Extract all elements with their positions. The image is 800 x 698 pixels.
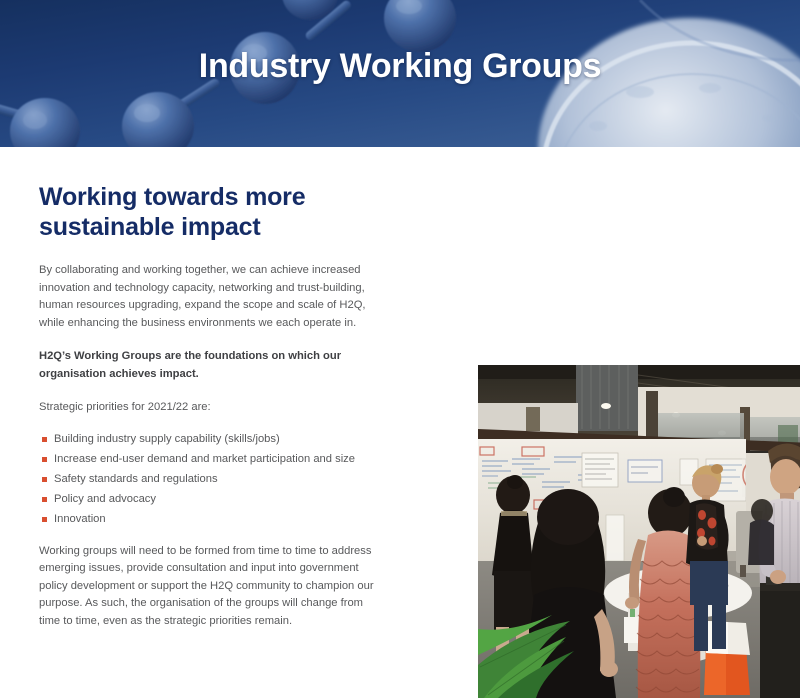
page-title: Industry Working Groups	[0, 45, 800, 87]
bullet-square-icon	[42, 497, 47, 502]
list-item-label: Safety standards and regulations	[54, 473, 218, 485]
list-item: Increase end-user demand and market part…	[39, 452, 377, 467]
workshop-photo	[478, 365, 800, 698]
priorities-intro: Strategic priorities for 2021/22 are:	[39, 399, 377, 417]
list-item-label: Building industry supply capability (ski…	[54, 433, 280, 445]
list-item: Innovation	[39, 512, 377, 527]
list-item-label: Increase end-user demand and market part…	[54, 453, 355, 465]
bullet-square-icon	[42, 517, 47, 522]
hero-banner: Industry Working Groups	[0, 0, 800, 147]
bullet-square-icon	[42, 437, 47, 442]
workshop-photo-image	[478, 365, 800, 698]
emphasis-paragraph: H2Q’s Working Groups are the foundations…	[39, 348, 377, 383]
list-item: Building industry supply capability (ski…	[39, 432, 377, 447]
bullet-square-icon	[42, 457, 47, 462]
intro-paragraph: By collaborating and working together, w…	[39, 262, 377, 332]
strategic-priorities-list: Building industry supply capability (ski…	[39, 432, 377, 527]
list-item: Safety standards and regulations	[39, 472, 377, 487]
list-item-label: Innovation	[54, 513, 106, 525]
closing-paragraph: Working groups will need to be formed fr…	[39, 543, 377, 631]
list-item: Policy and advocacy	[39, 492, 377, 507]
main-content: Working towards more sustainable impact …	[0, 147, 800, 583]
list-item-label: Policy and advocacy	[54, 493, 156, 505]
bullet-square-icon	[42, 477, 47, 482]
text-column: Working towards more sustainable impact …	[39, 182, 377, 646]
section-heading: Working towards more sustainable impact	[39, 182, 377, 242]
